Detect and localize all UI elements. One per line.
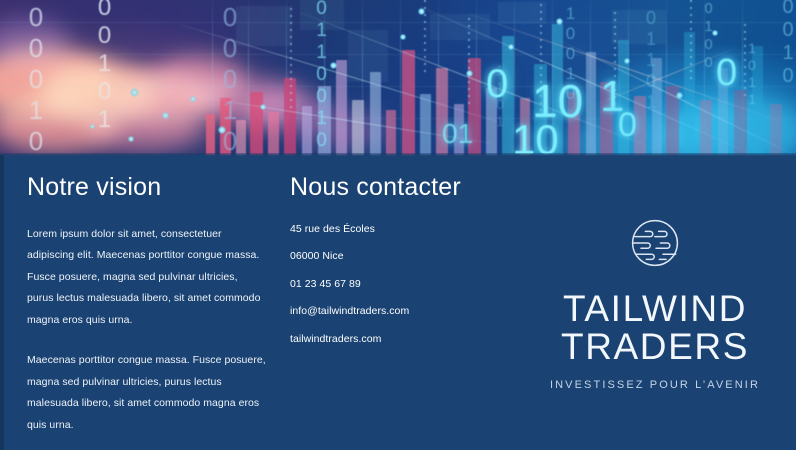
left-edge-strip bbox=[0, 155, 4, 450]
contact-column: Nous contacter 45 rue des Écoles 06000 N… bbox=[290, 174, 505, 344]
brand-lockup: TAILWIND TRADERS INVESTISSEZ POUR L’AVEN… bbox=[530, 218, 780, 391]
contact-title: Nous contacter bbox=[290, 174, 505, 202]
hero-image: 000101 00101 000101 0110010 10010 01101 … bbox=[0, 0, 796, 156]
hero-depth-of-field-veil bbox=[0, 0, 796, 156]
globe-wind-icon bbox=[630, 218, 680, 268]
contact-street: 45 rue des Écoles bbox=[290, 224, 505, 235]
content-panel: Notre vision Lorem ipsum dolor sit amet,… bbox=[0, 156, 796, 450]
contact-email[interactable]: info@tailwindtraders.com bbox=[290, 306, 505, 317]
contact-city: 06000 Nice bbox=[290, 251, 505, 262]
brand-name-line-1: TAILWIND bbox=[530, 290, 780, 328]
vision-title: Notre vision bbox=[27, 174, 267, 202]
contact-phone[interactable]: 01 23 45 67 89 bbox=[290, 279, 505, 290]
brand-name-line-2: TRADERS bbox=[530, 328, 780, 366]
contact-details-list: 45 rue des Écoles 06000 Nice 01 23 45 67… bbox=[290, 224, 505, 345]
brand-tagline: INVESTISSEZ POUR L’AVENIR bbox=[530, 379, 780, 391]
vision-paragraph-2: Maecenas porttitor congue massa. Fusce p… bbox=[27, 350, 267, 436]
contact-website[interactable]: tailwindtraders.com bbox=[290, 334, 505, 345]
vision-paragraph-1: Lorem ipsum dolor sit amet, consectetuer… bbox=[27, 224, 267, 332]
vision-column: Notre vision Lorem ipsum dolor sit amet,… bbox=[27, 174, 267, 436]
brochure-page: 000101 00101 000101 0110010 10010 01101 … bbox=[0, 0, 796, 450]
